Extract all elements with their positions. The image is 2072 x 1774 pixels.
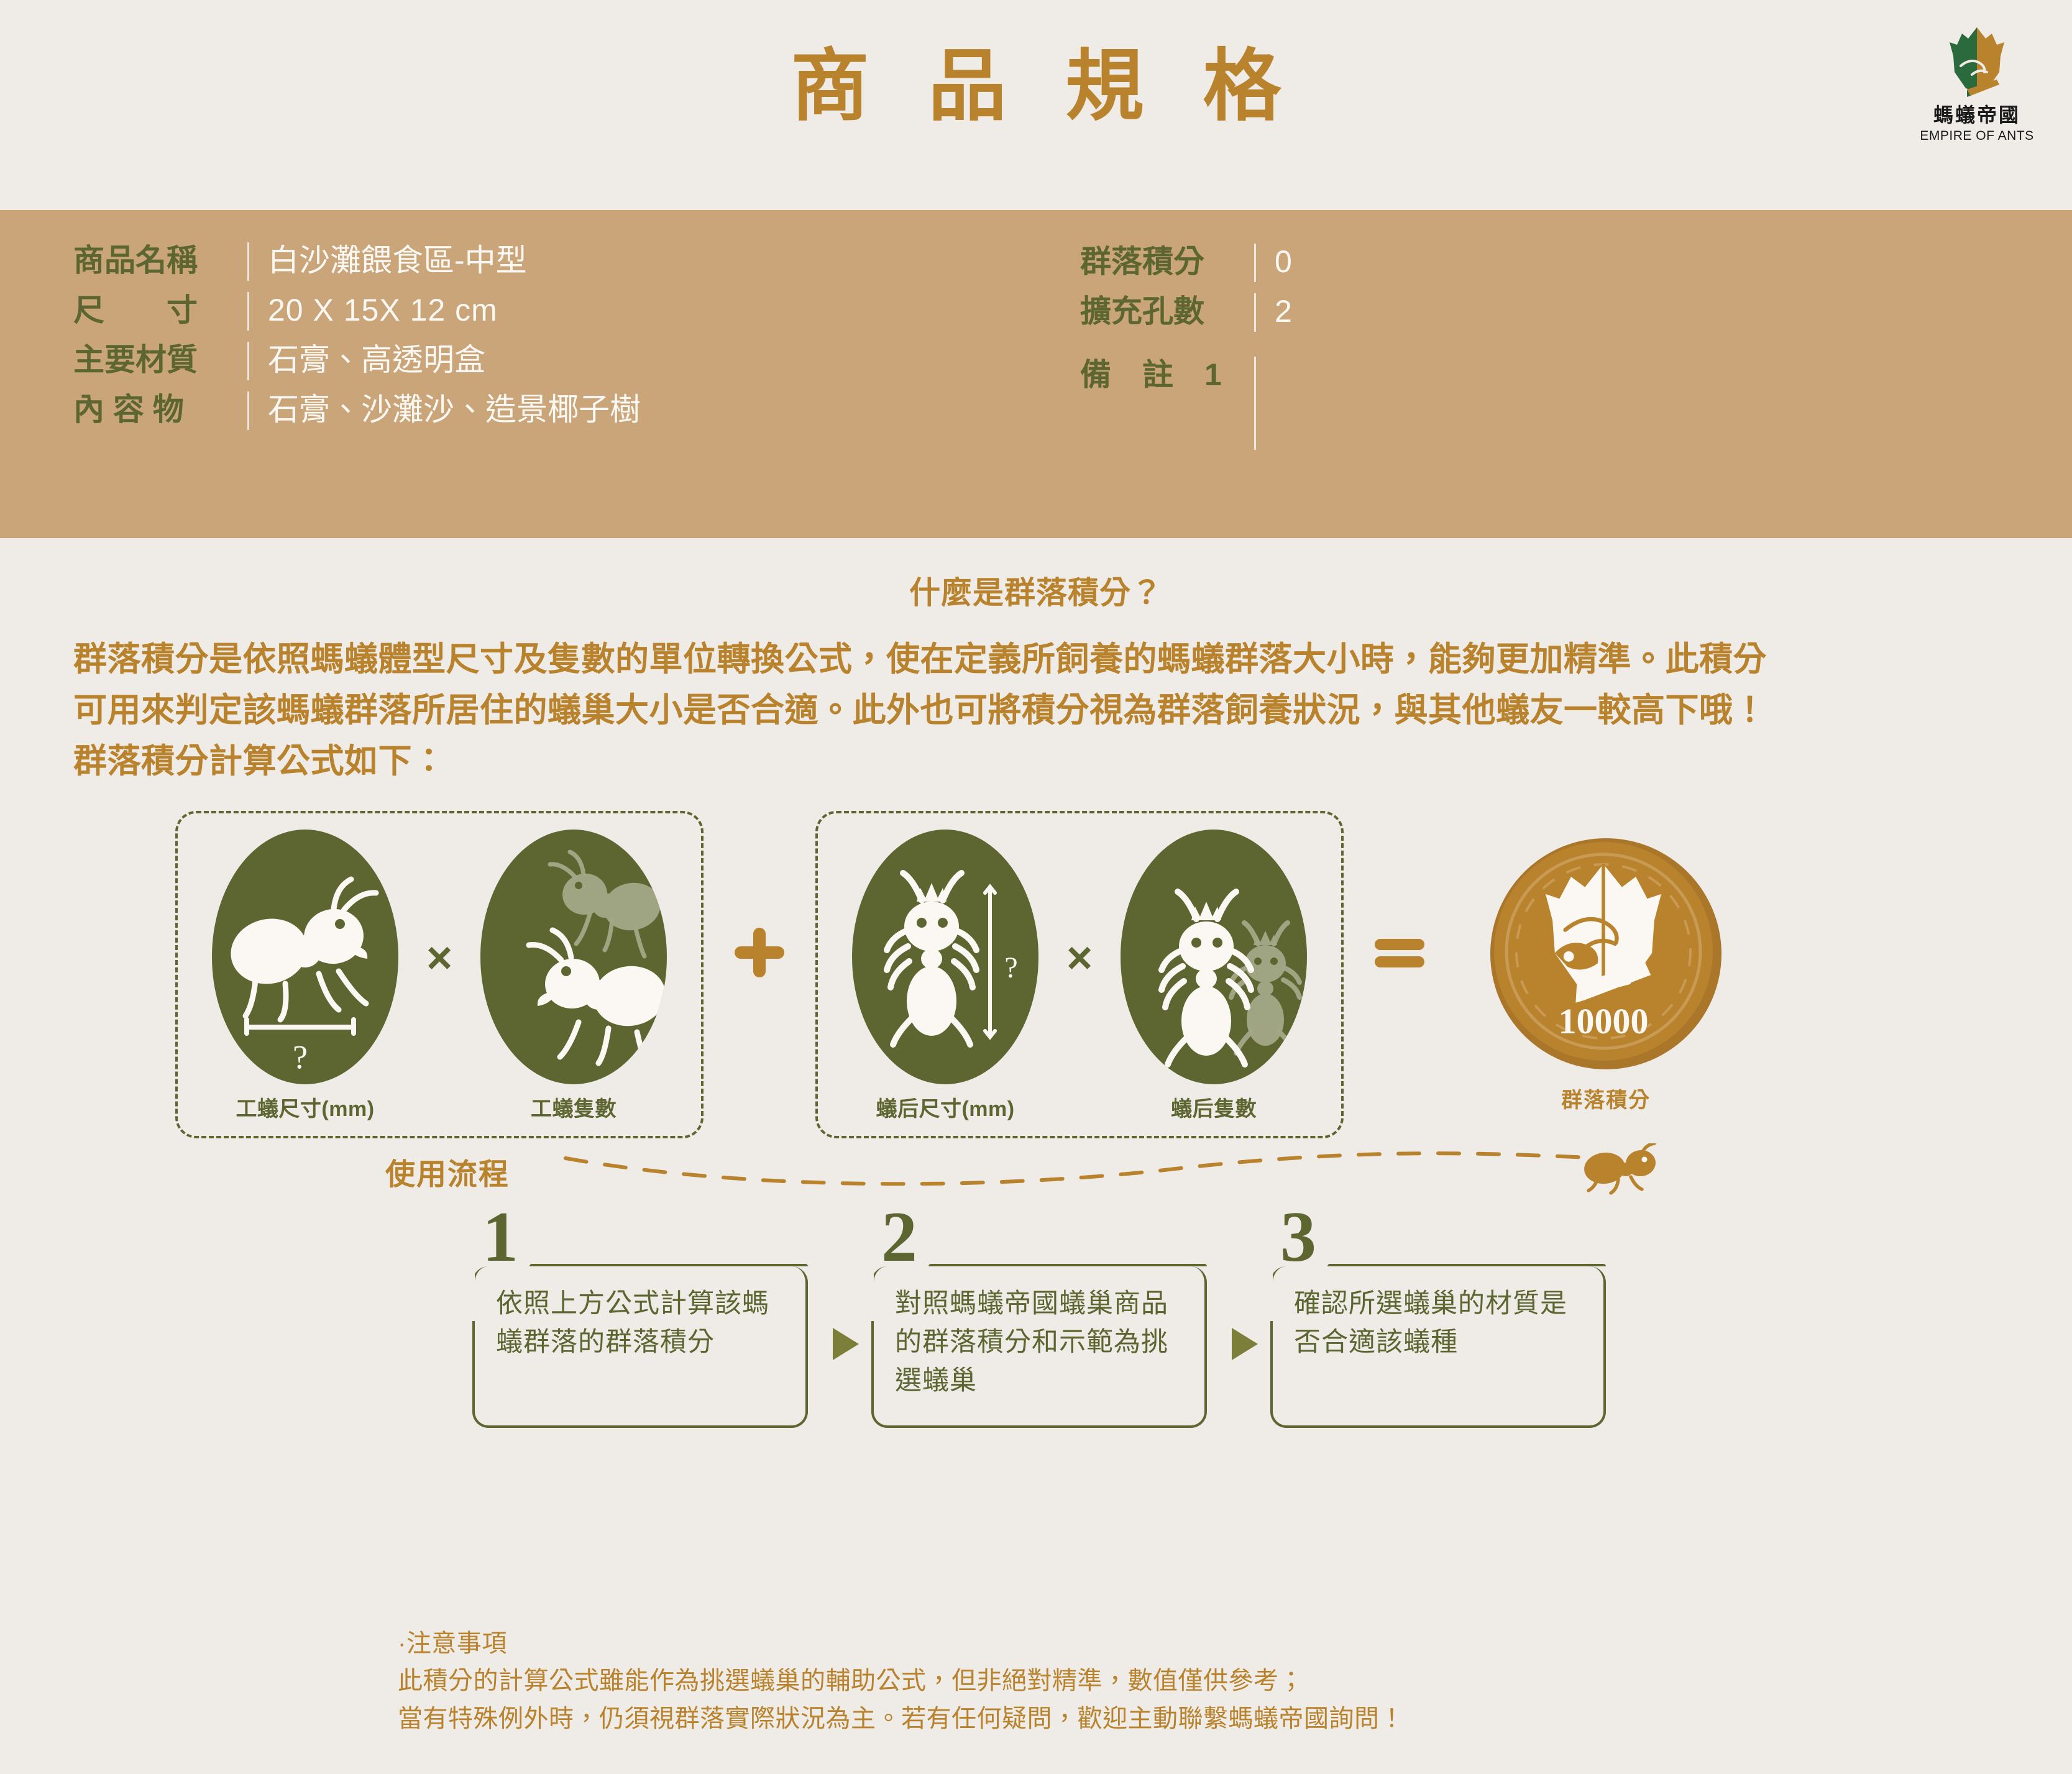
- spec-row: 內 容 物 石膏、沙灘沙、造景椰子樹: [73, 391, 1080, 430]
- colony-score-coin: 10000 群落積分: [1488, 836, 1724, 1113]
- flow-title: 使用流程: [385, 1150, 510, 1193]
- formula-cell-queen-size: ? 蟻后尺寸(mm): [843, 830, 1048, 1122]
- formula-caption: 蟻后尺寸(mm): [843, 1092, 1048, 1122]
- multiply-sign: ×: [1066, 936, 1093, 981]
- spec-row: 群落積分 0: [1080, 244, 1689, 282]
- step-number: 3: [1270, 1203, 1618, 1271]
- ant-crown-logo-icon: [1940, 24, 2014, 99]
- notes-line: 當有特殊例外時，仍須視群落實際狀況為主。若有任何疑問，歡迎主動聯繫螞蟻帝國詢問！: [398, 1700, 1405, 1738]
- formula-cell-queen-count: 蟻后隻數: [1111, 830, 1316, 1122]
- spec-value: 20 X 15X 12 cm: [249, 292, 498, 329]
- spec-label-colony-score: 群落積分: [1080, 244, 1254, 280]
- colony-score-explanation: 什麼是群落積分？ 群落積分是依照螞蟻體型尺寸及隻數的單位轉換公式，使在定義所飼養…: [0, 538, 2072, 787]
- explain-line: 群落積分計算公式如下：: [73, 736, 1999, 787]
- queen-ant-count-icon: [1121, 830, 1307, 1084]
- walking-ant-icon: [1579, 1143, 1666, 1202]
- brand-logo: 螞蟻帝國 EMPIRE OF ANTS: [1912, 24, 2042, 144]
- page-title: 商 品 規 格: [0, 37, 2072, 135]
- notes-heading: ·注意事項: [398, 1625, 1405, 1663]
- step-text: 對照螞蟻帝國蟻巢商品的群落積分和示範為挑選蟻巢: [895, 1285, 1188, 1401]
- step-arrow-icon: [1228, 1324, 1262, 1367]
- usage-flow-section: 使用流程 1 依照上方公式計算該螞蟻群落的群落積分: [0, 1143, 2072, 1491]
- spec-value: 石膏、沙灘沙、造景椰子樹: [249, 391, 641, 428]
- plus-sign-icon: [731, 924, 788, 981]
- multiply-sign: ×: [426, 936, 452, 981]
- spec-right-column: 群落積分 0 擴充孔數 2 備 註 1: [1080, 242, 1689, 461]
- step-arrow-icon: [829, 1324, 863, 1367]
- step-box: 確認所選蟻巢的材質是否合適該蟻種: [1270, 1266, 1606, 1428]
- spec-value: 石膏、高透明盒: [249, 342, 485, 378]
- formula-group-worker: ? 工蟻尺寸(mm) ×: [175, 811, 704, 1138]
- spec-divider: [1254, 357, 1256, 450]
- step-box: 對照螞蟻帝國蟻巢商品的群落積分和示範為挑選蟻巢: [871, 1266, 1207, 1428]
- worker-ant-count-icon: [480, 830, 667, 1084]
- spec-value-colony-score: 0: [1256, 244, 1293, 280]
- formula-cell-worker-count: 工蟻隻數: [471, 830, 676, 1122]
- queen-ant-size-icon: ?: [852, 830, 1038, 1084]
- step-text: 確認所選蟻巢的材質是否合適該蟻種: [1294, 1285, 1587, 1362]
- formula-caption: 工蟻尺寸(mm): [203, 1092, 408, 1122]
- svg-text:?: ?: [1004, 951, 1017, 984]
- step-text: 依照上方公式計算該螞蟻群落的群落積分: [496, 1285, 789, 1362]
- notes-section: ·注意事項 此積分的計算公式雖能作為挑選蟻巢的輔助公式，但非絕對精準，數值僅供參…: [398, 1625, 1405, 1738]
- equals-sign-icon: [1371, 933, 1428, 972]
- spec-label: 尺 寸: [73, 292, 247, 329]
- spec-label: 內 容 物: [73, 391, 247, 428]
- spec-divider: [247, 242, 249, 281]
- spec-divider: [1254, 293, 1256, 332]
- coin-icon: 10000: [1488, 836, 1724, 1072]
- step-number: 1: [472, 1203, 820, 1271]
- brand-name-en: EMPIRE OF ANTS: [1912, 129, 2042, 144]
- spec-row: 尺 寸 20 X 15X 12 cm: [73, 292, 1080, 331]
- product-spec-band: 商品名稱 白沙灘餵食區-中型 尺 寸 20 X 15X 12 cm 主要材質 石…: [0, 210, 2072, 538]
- notes-line: 此積分的計算公式雖能作為挑選蟻巢的輔助公式，但非絕對精準，數值僅供參考；: [398, 1662, 1405, 1700]
- worker-ant-size-icon: ?: [212, 830, 398, 1084]
- formula-group-queen: ? 蟻后尺寸(mm) ×: [815, 811, 1344, 1138]
- spec-divider: [247, 342, 249, 380]
- flow-step-2: 2 對照螞蟻帝國蟻巢商品的群落積分和示範為挑選蟻巢: [871, 1203, 1219, 1428]
- colony-score-formula: ? 工蟻尺寸(mm) ×: [0, 819, 2072, 1130]
- brand-name-cn: 螞蟻帝國: [1912, 104, 2042, 126]
- flow-steps: 1 依照上方公式計算該螞蟻群落的群落積分 2 對照螞蟻帝國蟻巢商品的群落積分和示…: [472, 1203, 1618, 1428]
- page-header: 商 品 規 格 螞蟻帝國 EMPIRE OF ANTS: [0, 0, 2072, 210]
- spec-label: 主要材質: [73, 342, 247, 378]
- spec-divider: [247, 391, 249, 430]
- flow-step-1: 1 依照上方公式計算該螞蟻群落的群落積分: [472, 1203, 820, 1428]
- svg-text:?: ?: [293, 1038, 308, 1076]
- spec-label-expansion-holes: 擴充孔數: [1080, 293, 1254, 330]
- spec-divider: [247, 292, 249, 331]
- spec-row-remark: 備 註 1: [1080, 357, 1689, 450]
- coin-caption: 群落積分: [1488, 1083, 1724, 1113]
- explain-line: 可用來判定該螞蟻群落所居住的蟻巢大小是否合適。此外也可將積分視為群落飼養狀況，與…: [73, 685, 1999, 736]
- spec-value: 白沙灘餵食區-中型: [249, 242, 527, 279]
- spec-value-expansion-holes: 2: [1256, 293, 1293, 330]
- formula-caption: 蟻后隻數: [1111, 1092, 1316, 1122]
- coin-value: 10000: [1559, 1001, 1649, 1041]
- flow-dashed-path: [559, 1137, 1616, 1190]
- explain-body: 群落積分是依照螞蟻體型尺寸及隻數的單位轉換公式，使在定義所飼養的螞蟻群落大小時，…: [0, 634, 2072, 787]
- explain-line: 群落積分是依照螞蟻體型尺寸及隻數的單位轉換公式，使在定義所飼養的螞蟻群落大小時，…: [73, 634, 1999, 685]
- spec-divider: [1254, 244, 1256, 282]
- step-number: 2: [871, 1203, 1219, 1271]
- spec-row: 商品名稱 白沙灘餵食區-中型: [73, 242, 1080, 281]
- spec-left-column: 商品名稱 白沙灘餵食區-中型 尺 寸 20 X 15X 12 cm 主要材質 石…: [73, 242, 1080, 461]
- flow-step-3: 3 確認所選蟻巢的材質是否合適該蟻種: [1270, 1203, 1618, 1428]
- spec-label-remark: 備 註 1: [1080, 357, 1254, 393]
- formula-caption: 工蟻隻數: [471, 1092, 676, 1122]
- formula-cell-worker-size: ? 工蟻尺寸(mm): [203, 830, 408, 1122]
- spec-label: 商品名稱: [73, 242, 247, 279]
- step-box: 依照上方公式計算該螞蟻群落的群落積分: [472, 1266, 808, 1428]
- explain-title: 什麼是群落積分？: [0, 568, 2072, 613]
- spec-row: 主要材質 石膏、高透明盒: [73, 342, 1080, 380]
- spec-row: 擴充孔數 2: [1080, 293, 1689, 332]
